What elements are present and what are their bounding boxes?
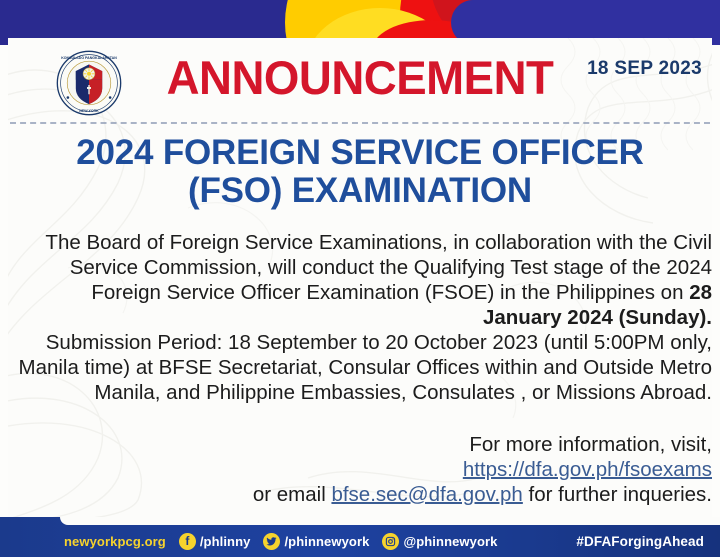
poster-header: KONSULADO PANGKALAHATAN NEW YORK ANNOUNC… xyxy=(0,38,720,122)
footer-social-list: newyorkpcg.org f /phlinny /phinnewyork xyxy=(64,525,498,557)
paragraph-contact-info: For more information, visit, https://dfa… xyxy=(12,432,712,507)
title-line-2: (FSO) EXAMINATION xyxy=(22,172,698,210)
paragraph-submission-period: Submission Period: 18 September to 20 Oc… xyxy=(12,330,712,405)
footer-notch xyxy=(60,517,720,525)
footer-instagram[interactable]: @phinnewyork xyxy=(382,533,497,550)
footer-website-link[interactable]: newyorkpcg.org xyxy=(64,534,166,549)
svg-text:KONSULADO PANGKALAHATAN: KONSULADO PANGKALAHATAN xyxy=(61,56,117,60)
email-prefix-text: or email xyxy=(253,483,332,506)
bfse-email-link[interactable]: bfse.sec@dfa.gov.ph xyxy=(331,483,522,506)
twitter-icon xyxy=(263,533,280,550)
instagram-handle: @phinnewyork xyxy=(403,534,497,549)
page-title: 2024 FOREIGN SERVICE OFFICER (FSO) EXAMI… xyxy=(22,134,698,210)
email-suffix-text: for further inqueries. xyxy=(523,483,712,506)
svg-text:NEW YORK: NEW YORK xyxy=(79,109,99,113)
footer-hashtag: #DFAForgingAhead xyxy=(576,525,704,557)
contact-lead-text: For more information, visit, xyxy=(469,433,712,456)
instagram-icon xyxy=(382,533,399,550)
announcement-heading: ANNOUNCEMENT xyxy=(147,49,574,107)
announcement-poster: KONSULADO PANGKALAHATAN NEW YORK ANNOUNC… xyxy=(0,0,720,557)
paragraph-exam-details: The Board of Foreign Service Examination… xyxy=(12,230,712,330)
paragraph-2-text: Submission Period: 18 September to 20 Oc… xyxy=(19,331,713,404)
footer-bar: newyorkpcg.org f /phlinny /phinnewyork xyxy=(0,517,720,557)
fsoexams-website-link[interactable]: https://dfa.gov.ph/fsoexams xyxy=(463,458,712,481)
twitter-handle: /phinnewyork xyxy=(284,534,369,549)
header-divider xyxy=(10,122,710,124)
philippine-consulate-seal-icon: KONSULADO PANGKALAHATAN NEW YORK xyxy=(56,50,122,116)
footer-facebook[interactable]: f /phlinny xyxy=(179,533,251,550)
announcement-date: 18 SEP 2023 xyxy=(587,58,702,80)
twitter-bird-glyph xyxy=(266,536,277,547)
paragraph-1-lead: The Board of Foreign Service Examination… xyxy=(45,231,712,304)
facebook-handle: /phlinny xyxy=(200,534,251,549)
title-line-1: 2024 FOREIGN SERVICE OFFICER xyxy=(76,133,644,172)
footer-twitter[interactable]: /phinnewyork xyxy=(263,533,369,550)
instagram-camera-glyph xyxy=(385,536,396,547)
facebook-icon: f xyxy=(179,533,196,550)
